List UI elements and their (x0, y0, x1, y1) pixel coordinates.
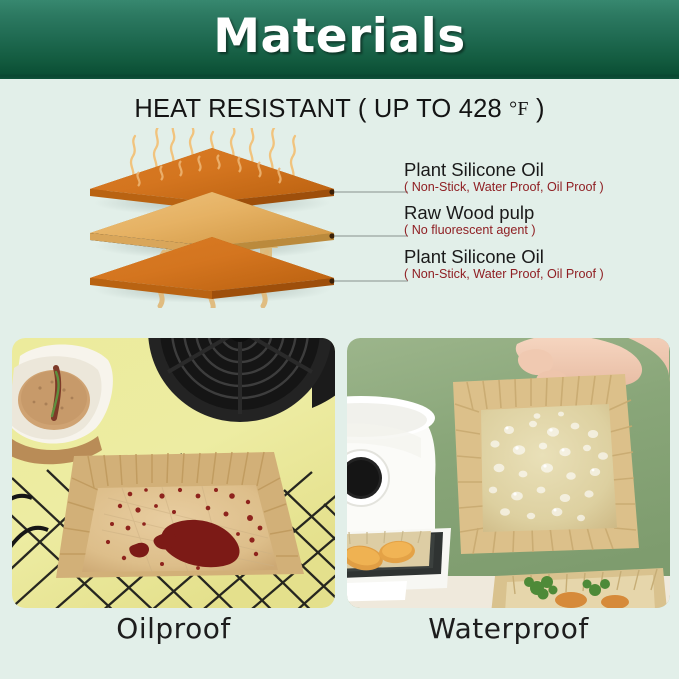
infographic-page: Materials HEAT RESISTANT ( UP TO 428 °F … (0, 0, 679, 679)
heat-resistant-headline: HEAT RESISTANT ( UP TO 428 °F ) (0, 95, 679, 124)
leader-lines (329, 189, 408, 283)
page-header-banner: Materials (0, 0, 679, 79)
callout-plant-silicone-oil-top: Plant Silicone Oil ( Non-Stick, Water Pr… (404, 160, 674, 194)
page-title: Materials (213, 13, 465, 66)
paper-liner (56, 452, 304, 578)
paper-liner-held (453, 374, 639, 554)
degree-fahrenheit-symbol: °F (509, 98, 529, 120)
callout-title: Plant Silicone Oil (404, 247, 674, 267)
callout-subtitle: ( No fluorescent agent ) (404, 223, 674, 237)
callout-plant-silicone-oil-bottom: Plant Silicone Oil ( Non-Stick, Water Pr… (404, 247, 674, 281)
callout-title: Raw Wood pulp (404, 203, 674, 223)
layer-diagram (60, 128, 410, 308)
photo-waterproof (347, 338, 670, 608)
layer-callout-list: Plant Silicone Oil ( Non-Stick, Water Pr… (404, 160, 674, 290)
caption-waterproof: Waterproof (347, 612, 670, 645)
heat-headline-suffix: ) (529, 95, 545, 123)
photo-oilproof (12, 338, 335, 608)
heat-headline-prefix: HEAT RESISTANT ( UP TO 428 (134, 95, 509, 123)
callout-subtitle: ( Non-Stick, Water Proof, Oil Proof ) (404, 180, 674, 194)
callout-raw-wood-pulp: Raw Wood pulp ( No fluorescent agent ) (404, 203, 674, 237)
caption-oilproof: Oilproof (12, 612, 335, 645)
callout-subtitle: ( Non-Stick, Water Proof, Oil Proof ) (404, 267, 674, 281)
callout-title: Plant Silicone Oil (404, 160, 674, 180)
